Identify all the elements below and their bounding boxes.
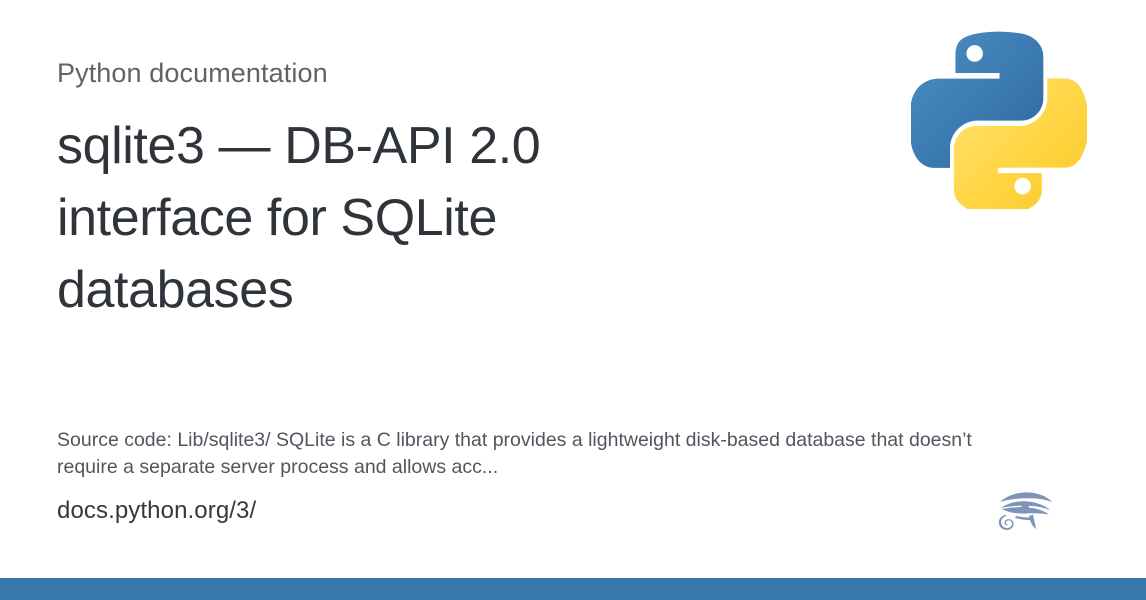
link-preview-card[interactable]: Python documentation sqlite3 — DB-API 2.…: [0, 0, 1146, 600]
site-name-eyebrow: Python documentation: [57, 56, 897, 90]
accent-bar: [0, 578, 1146, 600]
page-description: Source code: Lib/sqlite3/ SQLite is a C …: [57, 427, 1037, 481]
eye-of-horus-icon: [996, 491, 1056, 533]
page-url[interactable]: docs.python.org/3/: [57, 494, 256, 527]
python-logo: [911, 29, 1087, 209]
page-title: sqlite3 — DB-API 2.0 interface for SQLit…: [57, 110, 677, 326]
card-header: Python documentation sqlite3 — DB-API 2.…: [57, 56, 897, 326]
